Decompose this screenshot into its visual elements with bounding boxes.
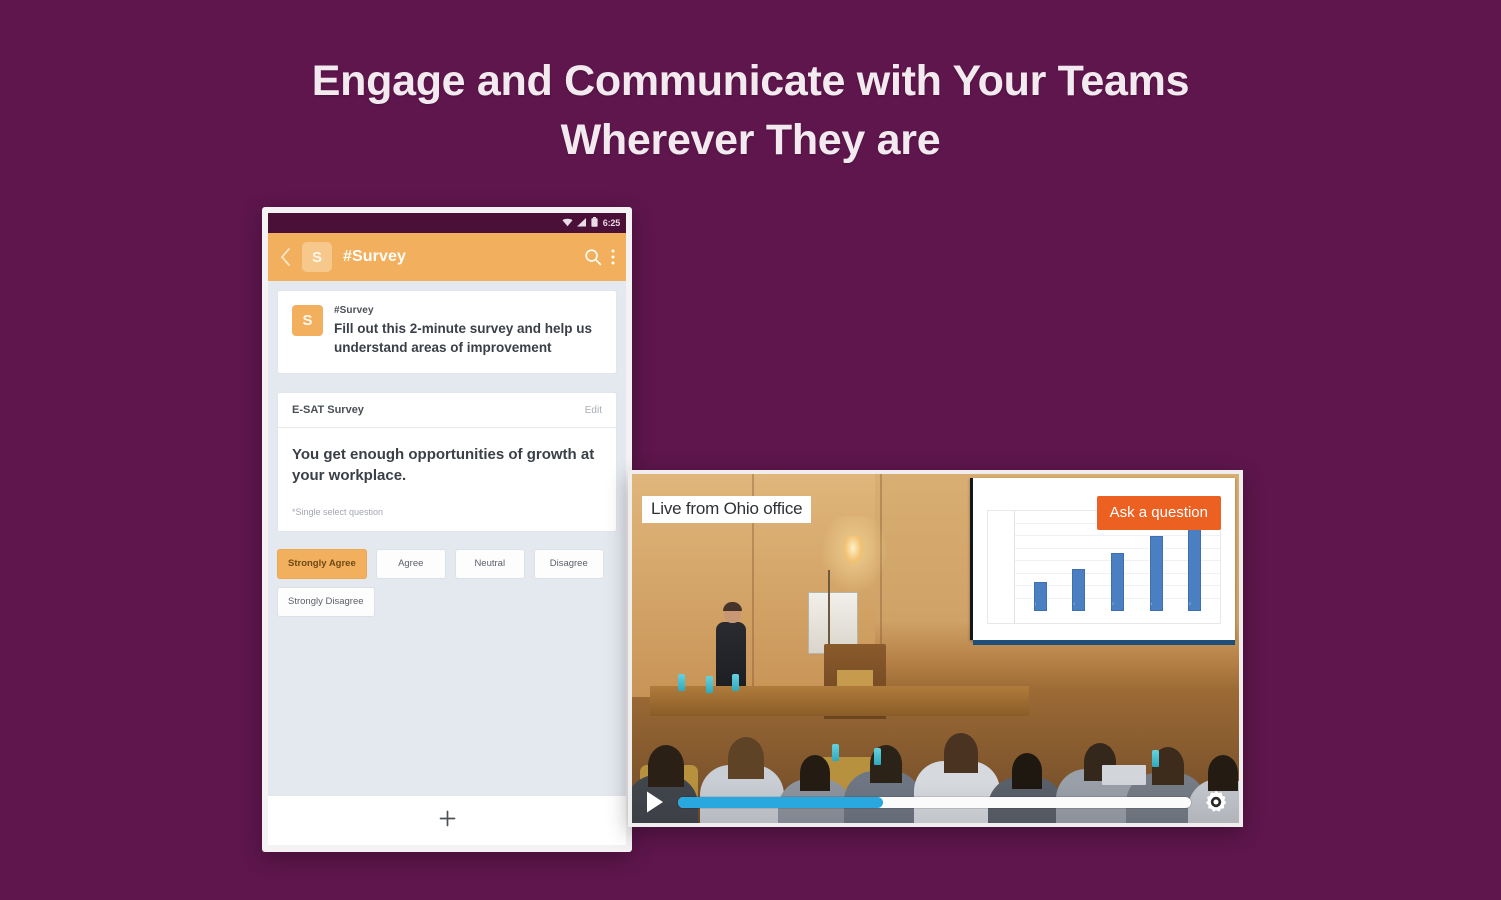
video-viewport[interactable]: 12345 Live from Ohio office Ask a questi… — [632, 474, 1239, 823]
phone-screen: 6:25 S #Survey S #Survey Fill out t — [268, 213, 626, 845]
headline-line-1: Engage and Communicate with Your Teams — [312, 57, 1189, 105]
water-bottle — [832, 744, 839, 761]
channel-avatar: S — [302, 242, 332, 272]
attendee-head — [728, 737, 764, 779]
status-bar-time: 6:25 — [603, 218, 620, 228]
survey-hint: *Single select question — [278, 493, 616, 531]
headline-line-2: Wherever They are — [0, 111, 1501, 170]
survey-option-strongly-disagree[interactable]: Strongly Disagree — [277, 587, 375, 617]
signal-icon — [577, 214, 587, 232]
survey-option-neutral[interactable]: Neutral — [455, 549, 525, 579]
chevron-left-icon[interactable] — [276, 248, 294, 266]
page-title: Engage and Communicate with Your Teams W… — [0, 52, 1501, 171]
channel-title: #Survey — [343, 248, 576, 266]
chart-bar: 4 — [1150, 536, 1163, 611]
survey-option-agree[interactable]: Agree — [376, 549, 446, 579]
survey-card: E-SAT Survey Edit You get enough opportu… — [277, 392, 617, 531]
chart-x-tick: 3 — [1112, 602, 1114, 606]
survey-header: E-SAT Survey Edit — [278, 393, 616, 428]
chart-x-tick: 5 — [1189, 602, 1191, 606]
message-avatar: S — [292, 305, 323, 336]
video-panel: 12345 Live from Ohio office Ask a questi… — [628, 470, 1243, 827]
gear-icon[interactable] — [1201, 787, 1231, 817]
survey-options: Strongly Agree Agree Neutral Disagree St… — [277, 549, 617, 617]
wifi-icon — [562, 214, 573, 232]
chart-x-tick: 2 — [1073, 602, 1075, 606]
water-bottle — [678, 674, 685, 691]
search-icon[interactable] — [584, 248, 602, 266]
more-vertical-icon[interactable] — [610, 248, 616, 266]
progress-scrubber[interactable] — [678, 797, 1191, 808]
survey-question: You get enough opportunities of growth a… — [278, 428, 616, 492]
chart-bar: 5 — [1188, 522, 1201, 611]
message-text: Fill out this 2-minute survey and help u… — [334, 319, 602, 357]
chart-bar: 3 — [1111, 553, 1124, 611]
ask-a-question-button[interactable]: Ask a question — [1097, 496, 1221, 530]
live-caption: Live from Ohio office — [642, 496, 811, 523]
video-controls — [632, 781, 1239, 823]
survey-option-strongly-agree[interactable]: Strongly Agree — [277, 549, 367, 579]
survey-edit-link[interactable]: Edit — [585, 405, 602, 416]
attendee-head — [944, 733, 978, 773]
chart-bar: 1 — [1034, 582, 1047, 611]
chart-x-tick: 1 — [1035, 602, 1037, 606]
status-bar: 6:25 — [268, 213, 626, 233]
message-body: #Survey Fill out this 2-minute survey an… — [334, 305, 602, 357]
chart-x-tick: 4 — [1151, 602, 1153, 606]
message-card: S #Survey Fill out this 2-minute survey … — [277, 290, 617, 374]
app-bar: S #Survey — [268, 233, 626, 281]
chart-bar: 2 — [1072, 569, 1085, 611]
chart-y-axis — [988, 511, 1014, 623]
water-bottle — [874, 748, 881, 765]
survey-name: E-SAT Survey — [292, 404, 364, 416]
wall-sconce — [842, 536, 864, 566]
play-icon[interactable] — [642, 789, 668, 815]
plus-icon[interactable] — [439, 810, 456, 832]
survey-option-disagree[interactable]: Disagree — [534, 549, 604, 579]
compose-bar — [268, 795, 626, 845]
water-bottle — [1152, 750, 1159, 767]
phone-mockup: 6:25 S #Survey S #Survey Fill out t — [262, 207, 632, 852]
battery-icon — [591, 214, 598, 232]
water-bottle — [706, 676, 713, 693]
progress-fill — [678, 797, 883, 808]
chat-body: S #Survey Fill out this 2-minute survey … — [268, 281, 626, 795]
water-bottle — [732, 674, 739, 691]
message-sender: #Survey — [334, 305, 602, 316]
